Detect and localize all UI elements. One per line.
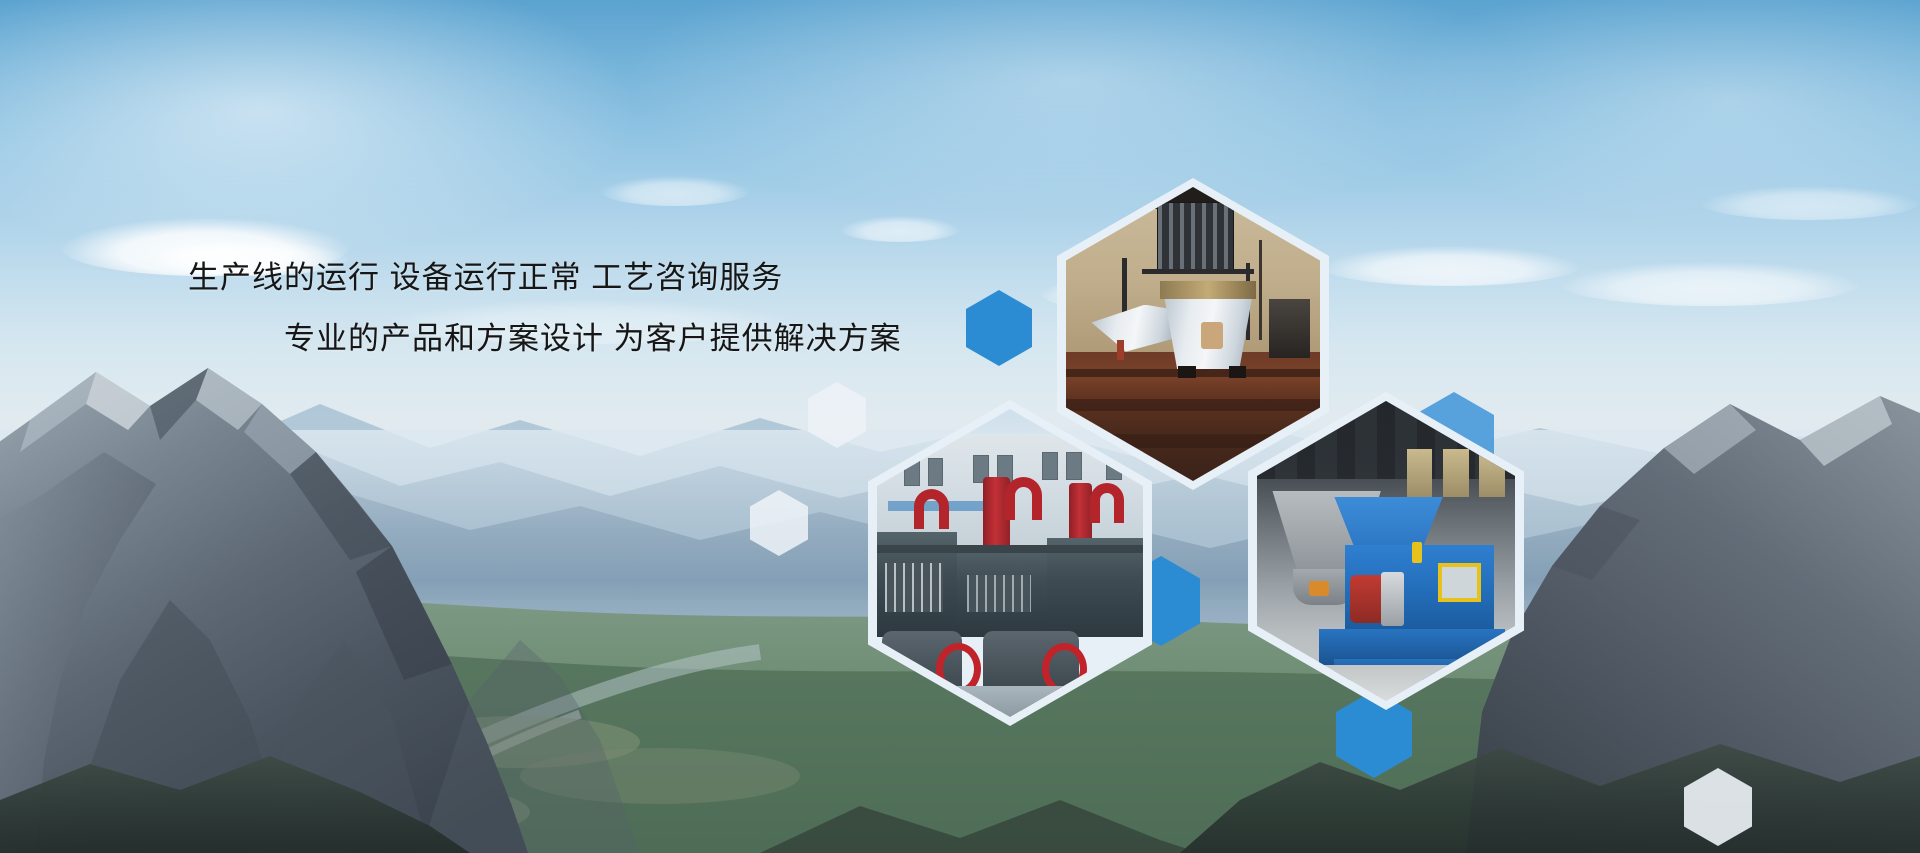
plant-machine-frame-right [1047,538,1143,637]
foundry-scene [1066,187,1320,481]
plant-scene [877,409,1143,717]
hex-photo-foundry-inner [1066,187,1320,481]
hex-photo-plant-inner [877,409,1143,717]
headline-line-1: 生产线的运行 设备运行正常 工艺咨询服务 [188,262,1000,293]
headline-line-2: 专业的产品和方案设计 为客户提供解决方案 [284,323,1000,354]
plant-window-6 [1066,452,1082,480]
plant-window-5 [1042,452,1058,480]
foundry-floor-stripe-2 [1066,399,1320,411]
plant-red-pipe-2 [914,489,949,529]
plant-grate-left [885,563,944,612]
shredder-scene [1257,401,1515,701]
foundry-gantry-beam [1142,269,1254,274]
foundry-red-item [1117,340,1125,361]
plant-red-pipe-3 [1090,483,1125,523]
workshop-window-3 [1479,452,1505,497]
shredder-control-panel-face [1442,567,1478,598]
plant-red-pipe-1 [1005,477,1042,520]
mountain-landscape [0,0,1920,853]
plant-crossbeam [877,545,1143,553]
hero-banner: 生产线的运行 设备运行正常 工艺咨询服务 专业的产品和方案设计 为客户提供解决方… [0,0,1920,853]
workshop-window-2 [1443,449,1469,497]
shredder-control-panel [1438,563,1482,602]
plant-window-2 [928,458,944,486]
headline-block: 生产线的运行 设备运行正常 工艺咨询服务 专业的产品和方案设计 为客户提供解决方… [0,262,1000,354]
foundry-right-equipment [1269,299,1310,358]
foundry-ladle-collar [1160,281,1257,299]
foundry-ladle-valve [1201,322,1224,348]
foundry-control-cage [1157,202,1233,273]
foundry-right-pole [1259,240,1262,340]
plant-window-1 [904,458,920,486]
foundry-ladle-pad-1 [1178,366,1196,378]
foundry-ladle-pad-2 [1229,366,1247,378]
shredder-yellow-lamp [1412,542,1422,563]
shredder-grey-coupling [1381,572,1404,626]
plant-grate-mid [967,575,1031,612]
workshop-window-1 [1407,449,1433,497]
hex-photo-shredder-inner [1257,401,1515,701]
shredder-orange-detail [1309,581,1330,596]
